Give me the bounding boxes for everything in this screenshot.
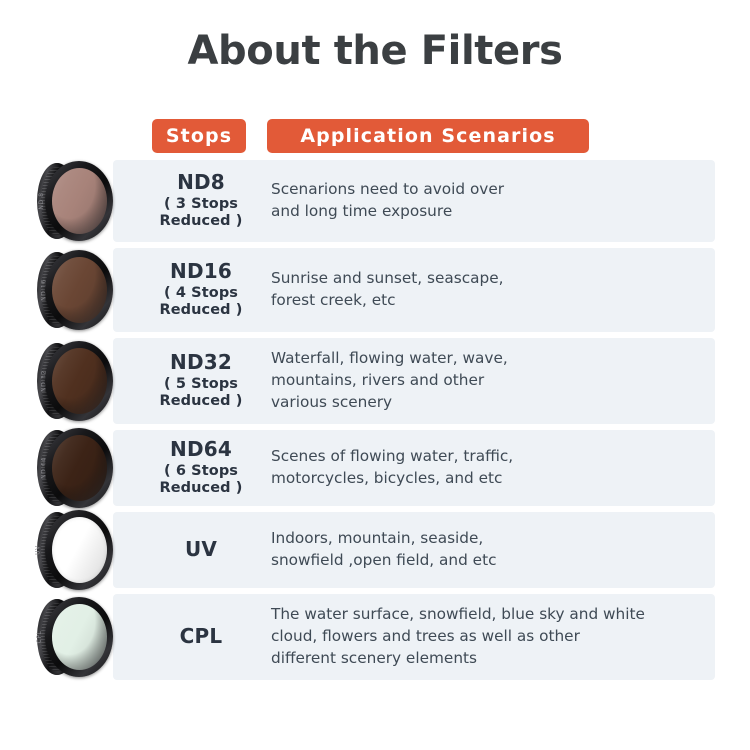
filter-side-label: CPL (36, 631, 43, 644)
filter-image-cell: ND 16 (33, 245, 119, 335)
stops-cell: ND16( 4 Stops Reduced ) (140, 245, 262, 335)
application-scenarios-cell: Sunrise and sunset, seascape, forest cre… (271, 245, 710, 335)
filter-image-cell: UV (33, 509, 119, 591)
application-scenarios-text: Scenes of flowing water, traffic, motorc… (271, 446, 513, 489)
table-header-row: Stops Application Scenarios (0, 119, 750, 153)
filter-name: ND8 (177, 171, 225, 195)
table-row: ND 8ND8( 3 Stops Reduced )Scenarions nee… (0, 157, 750, 245)
stops-cell: CPL (140, 591, 262, 683)
application-scenarios-cell: The water surface, snowfield, blue sky a… (271, 591, 710, 683)
filter-glass (52, 604, 107, 670)
stops-reduced-label: ( 3 Stops Reduced ) (159, 196, 242, 231)
header-stops: Stops (152, 119, 246, 153)
filter-glass (52, 168, 107, 234)
filter-image-cell: ND 32 (33, 335, 119, 427)
stops-cell: UV (140, 509, 262, 591)
uv-filter-icon: UV (37, 510, 115, 590)
filter-name: ND32 (170, 351, 232, 375)
application-scenarios-text: Sunrise and sunset, seascape, forest cre… (271, 268, 503, 311)
filters-info-page: About the Filters Stops Application Scen… (0, 0, 750, 750)
application-scenarios-cell: Indoors, mountain, seaside, snowfield ,o… (271, 509, 710, 591)
filter-glass (52, 348, 107, 414)
stops-cell: ND64( 6 Stops Reduced ) (140, 427, 262, 509)
filter-glass (52, 517, 107, 583)
stops-cell: ND8( 3 Stops Reduced ) (140, 157, 262, 245)
table-row: ND 16ND16( 4 Stops Reduced )Sunrise and … (0, 245, 750, 335)
nd8-filter-icon: ND 8 (37, 161, 115, 241)
filter-table-body: ND 8ND8( 3 Stops Reduced )Scenarions nee… (0, 157, 750, 683)
application-scenarios-cell: Scenarions need to avoid over and long t… (271, 157, 710, 245)
stops-reduced-label: ( 6 Stops Reduced ) (159, 463, 242, 498)
nd32-filter-icon: ND 32 (37, 341, 115, 421)
filter-image-cell: ND 8 (33, 157, 119, 245)
table-row: CPLCPLThe water surface, snowfield, blue… (0, 591, 750, 683)
filter-name: CPL (180, 625, 223, 649)
page-title: About the Filters (0, 28, 750, 74)
application-scenarios-text: The water surface, snowfield, blue sky a… (271, 604, 645, 669)
filter-name: ND64 (170, 438, 232, 462)
filter-glass (52, 435, 107, 501)
table-row: UVUVIndoors, mountain, seaside, snowfiel… (0, 509, 750, 591)
filter-image-cell: ND 64 (33, 427, 119, 509)
stops-reduced-label: ( 4 Stops Reduced ) (159, 285, 242, 320)
nd16-filter-icon: ND 16 (37, 250, 115, 330)
nd64-filter-icon: ND 64 (37, 428, 115, 508)
filter-glass (52, 257, 107, 323)
header-application-scenarios: Application Scenarios (267, 119, 589, 153)
table-row: ND 32ND32( 5 Stops Reduced )Waterfall, f… (0, 335, 750, 427)
application-scenarios-text: Waterfall, flowing water, wave, mountain… (271, 348, 508, 413)
table-row: ND 64ND64( 6 Stops Reduced )Scenes of fl… (0, 427, 750, 509)
filter-image-cell: CPL (33, 591, 119, 683)
filter-side-label: UV (34, 545, 41, 555)
stops-cell: ND32( 5 Stops Reduced ) (140, 335, 262, 427)
application-scenarios-cell: Waterfall, flowing water, wave, mountain… (271, 335, 710, 427)
application-scenarios-cell: Scenes of flowing water, traffic, motorc… (271, 427, 710, 509)
filter-name: ND16 (170, 260, 232, 284)
cpl-filter-icon: CPL (37, 597, 115, 677)
application-scenarios-text: Scenarions need to avoid over and long t… (271, 179, 504, 222)
stops-reduced-label: ( 5 Stops Reduced ) (159, 376, 242, 411)
filter-name: UV (185, 538, 217, 562)
application-scenarios-text: Indoors, mountain, seaside, snowfield ,o… (271, 528, 497, 571)
